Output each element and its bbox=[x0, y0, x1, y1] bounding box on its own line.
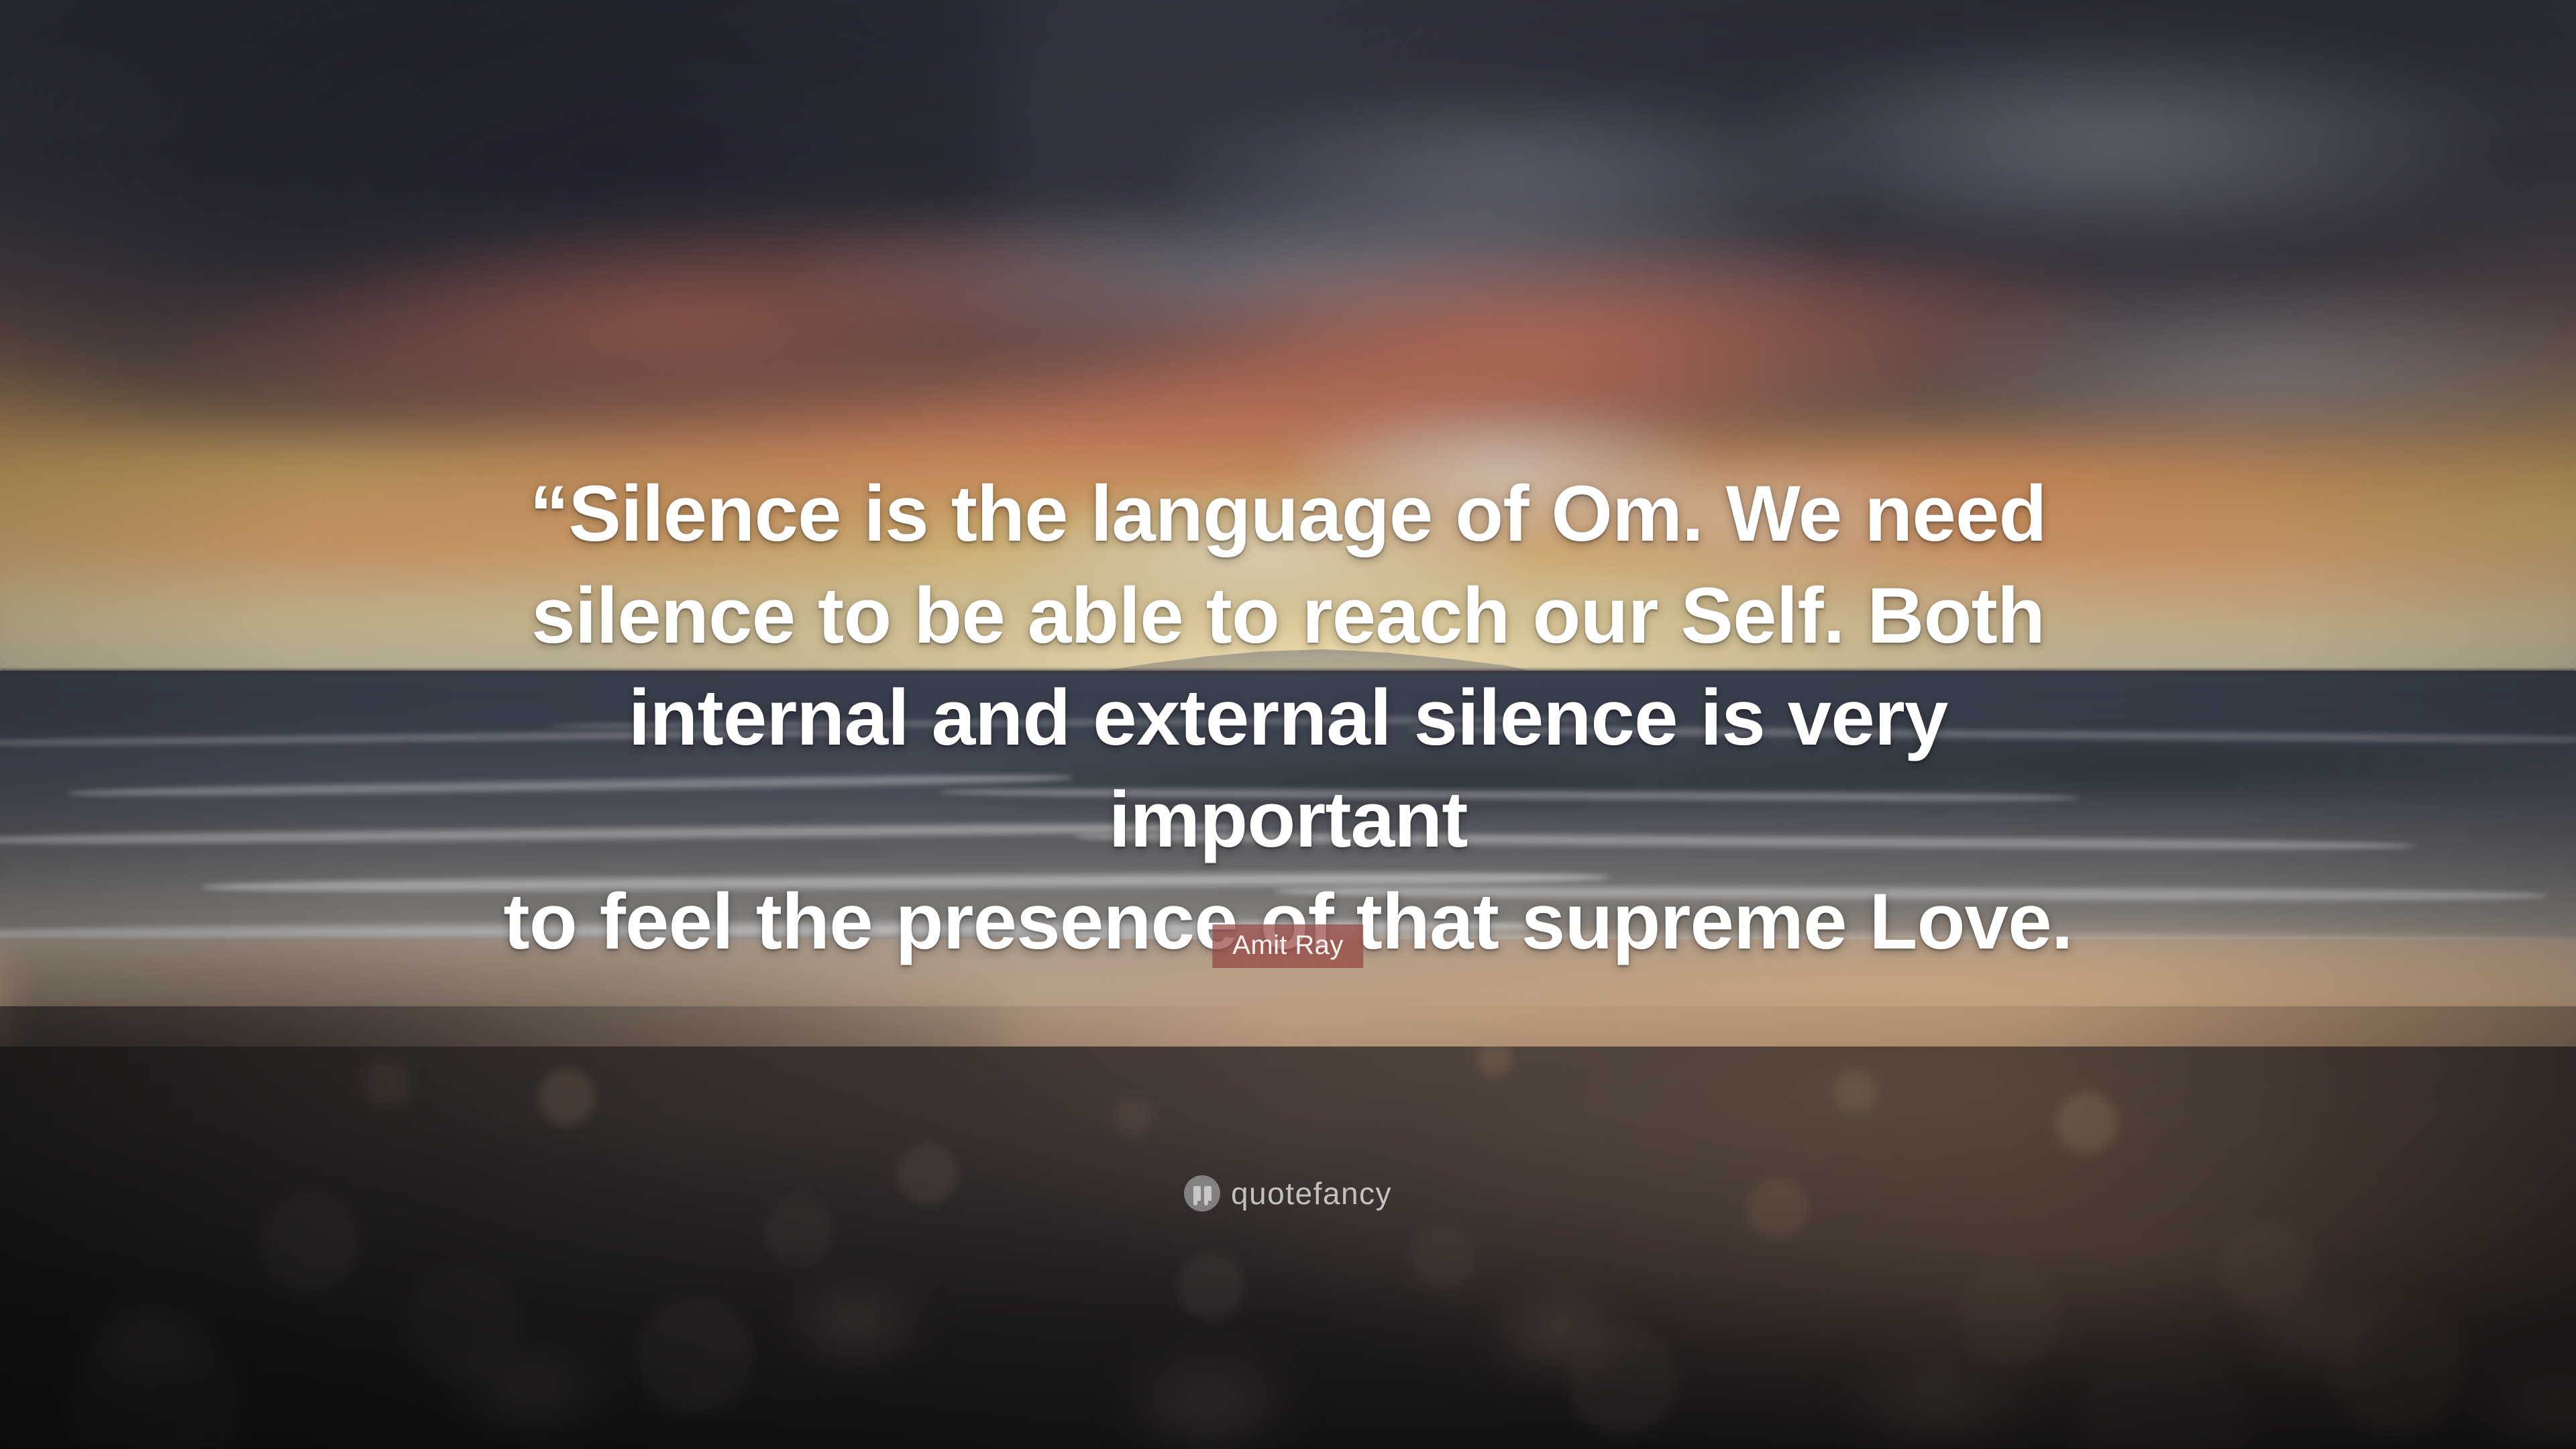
watermark-brand: quotefancy bbox=[1231, 1177, 1392, 1210]
quote-block: “Silence is the language of Om. We need … bbox=[463, 463, 2113, 973]
beach-vignette bbox=[0, 1006, 2576, 1449]
quotefancy-watermark: quotefancy bbox=[1184, 1175, 1392, 1212]
quote-marks-icon bbox=[1184, 1175, 1220, 1212]
quote-line-3: internal and external silence is very im… bbox=[463, 667, 2113, 871]
quote-mark-right bbox=[1203, 1186, 1211, 1201]
cloud-wisp bbox=[1758, 40, 2495, 241]
quote-line-2: silence to be able to reach our Self. Bo… bbox=[463, 565, 2113, 667]
quote-mark-left bbox=[1193, 1186, 1200, 1201]
quote-line-1: “Silence is the language of Om. We need bbox=[463, 463, 2113, 565]
author-name: Amit Ray bbox=[1232, 930, 1343, 960]
wallpaper-canvas: “Silence is the language of Om. We need … bbox=[0, 0, 2576, 1449]
quote-marks-glyph bbox=[1193, 1186, 1211, 1201]
author-badge: Amit Ray bbox=[1212, 924, 1363, 968]
